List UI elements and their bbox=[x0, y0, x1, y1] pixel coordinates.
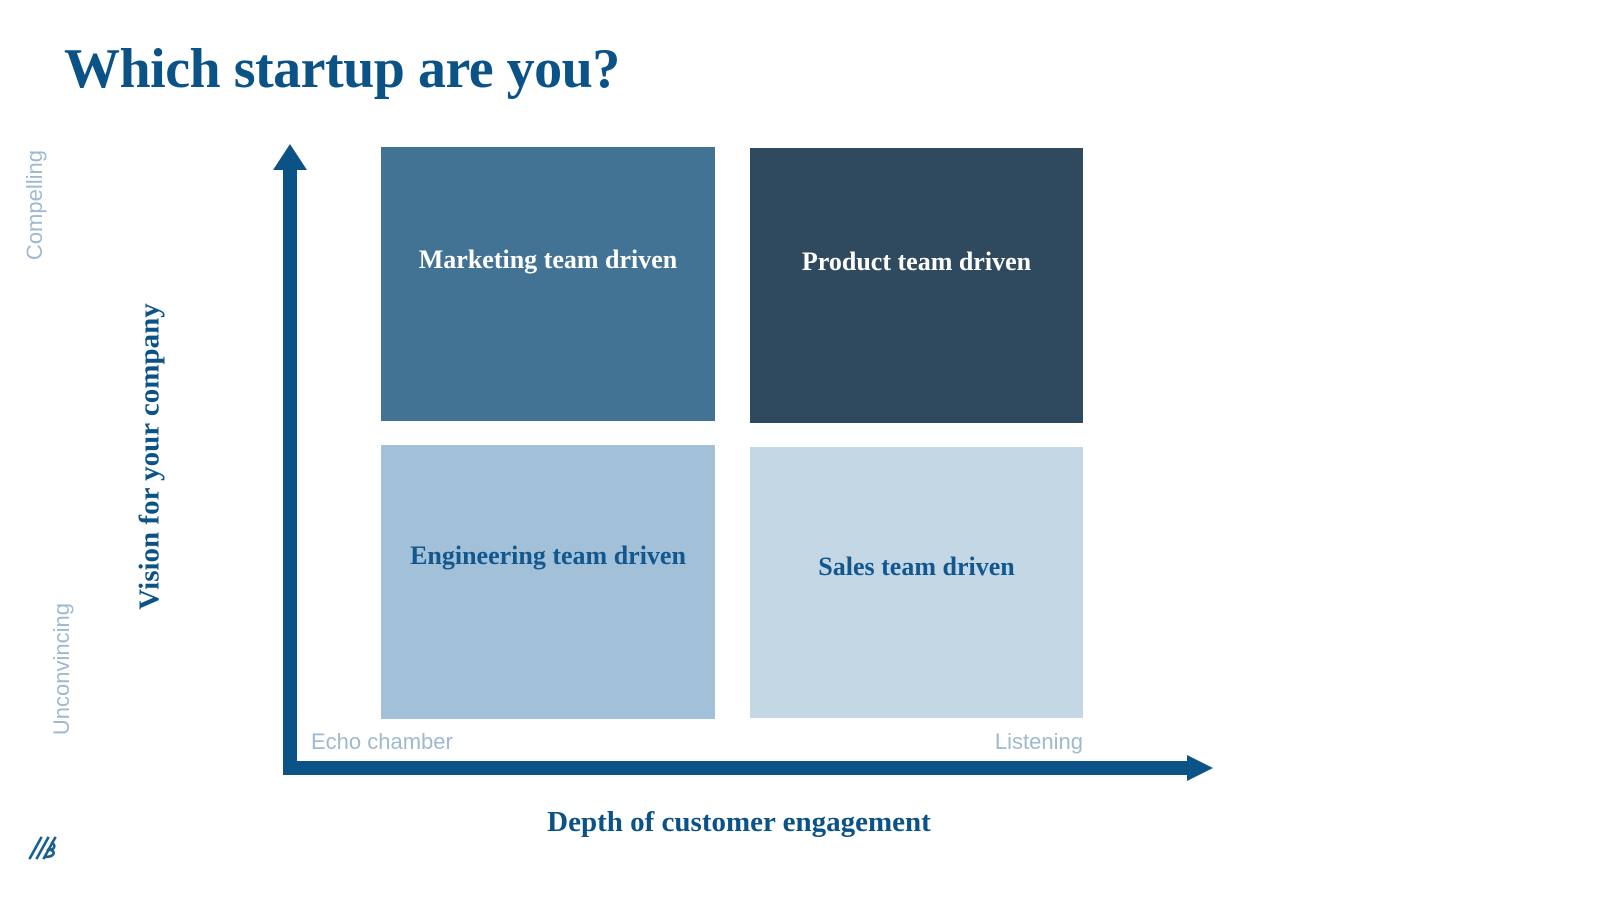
x-axis-tick-echo-chamber: Echo chamber bbox=[311, 729, 453, 755]
quadrant-marketing-team-driven[interactable]: Marketing team driven bbox=[381, 147, 715, 421]
y-axis-tick-compelling: Compelling bbox=[22, 150, 48, 320]
page-title: Which startup are you? bbox=[64, 38, 620, 100]
x-axis-arrow-icon bbox=[1187, 755, 1213, 781]
y-axis-title: Vision for your company bbox=[134, 227, 167, 687]
y-axis-tick-unconvincing: Unconvincing bbox=[49, 603, 75, 803]
slide-canvas: Which startup are you? Vision for your c… bbox=[0, 0, 1600, 900]
x-axis-title: Depth of customer engagement bbox=[283, 806, 1195, 839]
quadrant-label: Product team driven bbox=[776, 244, 1057, 280]
quadrant-product-team-driven[interactable]: Product team driven bbox=[750, 148, 1083, 423]
quadrant-label: Sales team driven bbox=[792, 549, 1040, 585]
x-axis-tick-listening: Listening bbox=[783, 729, 1083, 755]
company-logo-mark bbox=[24, 828, 64, 868]
quadrant-sales-team-driven[interactable]: Sales team driven bbox=[750, 447, 1083, 718]
quadrant-label: Engineering team driven bbox=[384, 538, 712, 574]
y-axis-arrow-icon bbox=[273, 144, 307, 170]
y-axis-line bbox=[283, 168, 297, 775]
quadrant-engineering-team-driven[interactable]: Engineering team driven bbox=[381, 445, 715, 719]
quadrant-label: Marketing team driven bbox=[393, 242, 704, 278]
x-axis-line bbox=[283, 761, 1195, 775]
